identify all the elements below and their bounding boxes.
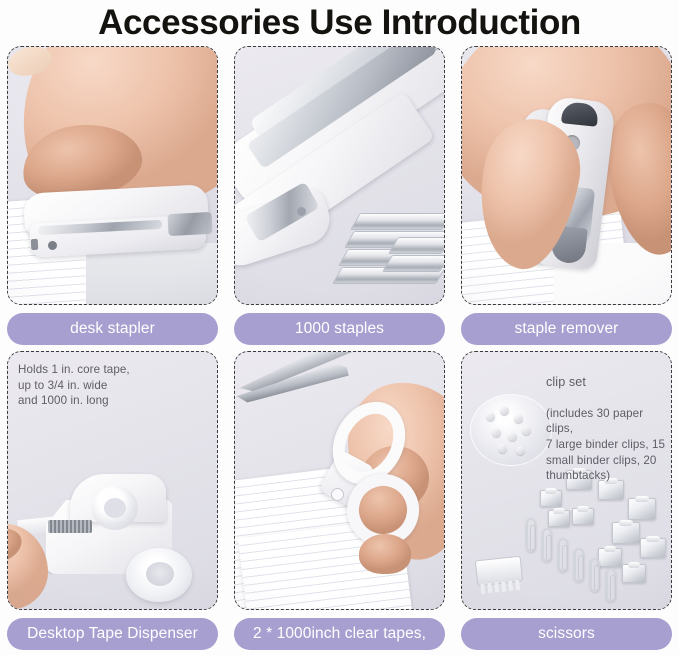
tape-dispenser-spec-text: Holds 1 in. core tape, up to 3/4 in. wid… bbox=[18, 362, 130, 409]
thumbtack bbox=[508, 432, 517, 441]
thumbtack bbox=[516, 446, 525, 455]
product-photo-desk-stapler bbox=[7, 46, 218, 305]
fingertip-shape bbox=[359, 534, 411, 574]
clip-set-title: clip set bbox=[546, 375, 671, 391]
tape-reel-core bbox=[104, 498, 126, 518]
binder-clip-large bbox=[612, 522, 640, 544]
binder-clip-small bbox=[572, 508, 594, 525]
paper-clip bbox=[590, 558, 600, 592]
caption-clear-tapes: 2 * 1000inch clear tapes, bbox=[234, 618, 445, 650]
thumbtack bbox=[486, 412, 495, 421]
staple-strip-stack bbox=[331, 197, 445, 301]
grid-cell-desk-stapler: desk stapler bbox=[7, 46, 218, 345]
staple-strip bbox=[388, 237, 445, 254]
product-photo-staples bbox=[234, 46, 445, 305]
product-infographic: Accessories Use Introduction desk staple… bbox=[0, 0, 679, 655]
caption-staples: 1000 staples bbox=[234, 313, 445, 345]
stapler-hinge bbox=[167, 212, 212, 236]
grid-cell-clip-set: clip set (includes 30 paper clips, 7 lar… bbox=[461, 351, 672, 650]
staple-strip bbox=[350, 213, 445, 230]
thumbtack bbox=[492, 428, 501, 437]
paper-clip bbox=[542, 528, 552, 562]
caption-staple-remover: staple remover bbox=[461, 313, 672, 345]
caption-desk-stapler: desk stapler bbox=[7, 313, 218, 345]
grid-cell-clear-tapes: 2 * 1000inch clear tapes, bbox=[234, 351, 445, 650]
paper-clip bbox=[606, 568, 616, 602]
caption-clip-set: scissors bbox=[461, 618, 672, 650]
thumbtack bbox=[522, 426, 531, 435]
paper-clip bbox=[558, 538, 568, 572]
binder-clip-small bbox=[548, 510, 570, 527]
page-title: Accessories Use Introduction bbox=[0, 2, 679, 44]
tape-roll-core bbox=[146, 562, 174, 586]
grid-cell-staple-remover: staple remover bbox=[461, 46, 672, 345]
clip-set-spec: clip set (includes 30 paper clips, 7 lar… bbox=[546, 359, 671, 499]
paper-clip bbox=[574, 548, 584, 582]
binder-clip-small bbox=[622, 564, 646, 583]
binder-clip-small bbox=[598, 548, 622, 567]
stapler-screw bbox=[297, 207, 306, 216]
clip-set-contents: (includes 30 paper clips, 7 large binder… bbox=[546, 406, 671, 484]
thumbtack bbox=[514, 414, 523, 423]
thumbtack bbox=[500, 406, 509, 415]
binder-clip-large bbox=[640, 538, 666, 558]
grid-cell-tape-dispenser: Holds 1 in. core tape, up to 3/4 in. wid… bbox=[7, 351, 218, 650]
paper-clip bbox=[526, 518, 536, 552]
thumbtack-tub bbox=[470, 394, 552, 466]
product-photo-tape-dispenser: Holds 1 in. core tape, up to 3/4 in. wid… bbox=[7, 351, 218, 610]
thumbtack bbox=[498, 444, 507, 453]
product-photo-staple-remover bbox=[461, 46, 672, 305]
scissor-pivot-screw bbox=[331, 488, 344, 501]
grid-cell-staples: 1000 staples bbox=[234, 46, 445, 345]
dispenser-blade bbox=[48, 520, 92, 533]
binder-clip-large bbox=[628, 498, 656, 520]
product-photo-clip-set: clip set (includes 30 paper clips, 7 lar… bbox=[461, 351, 672, 610]
clip-rack bbox=[475, 556, 523, 587]
feature-grid: desk stapler bbox=[7, 46, 672, 650]
caption-tape-dispenser: Desktop Tape Dispenser bbox=[7, 618, 218, 650]
staple-strip bbox=[382, 255, 445, 272]
stapler-latch bbox=[31, 239, 39, 250]
product-photo-scissors bbox=[234, 351, 445, 610]
